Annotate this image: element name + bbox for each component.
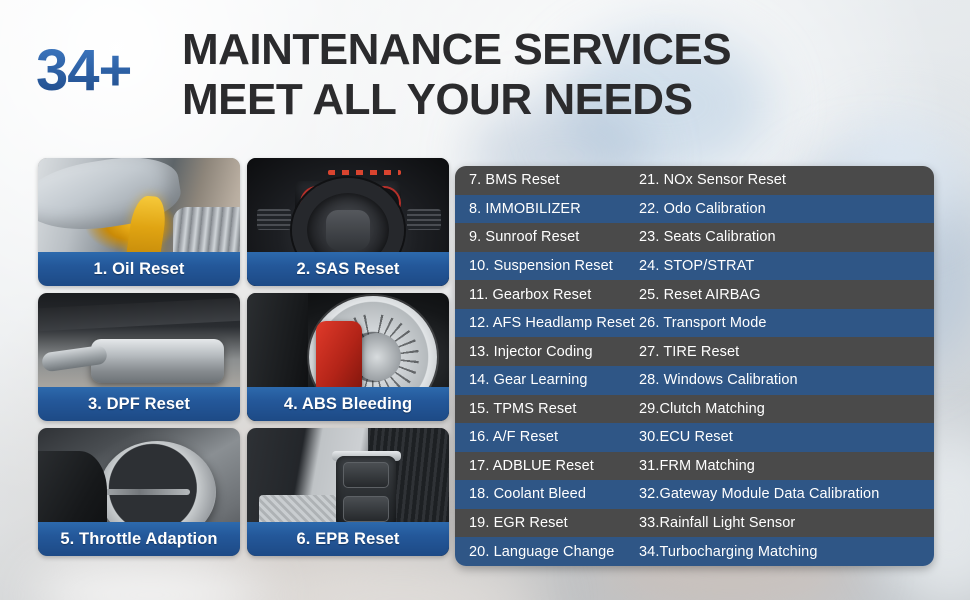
service-list-row: 12. AFS Headlamp Reset26. Transport Mode: [455, 309, 934, 338]
headline-line-1: MAINTENANCE SERVICES: [182, 25, 731, 74]
service-item-label: 11. Gearbox Reset: [455, 287, 638, 303]
service-item-label: 15. TPMS Reset: [455, 401, 638, 417]
service-list-row: 16. A/F Reset30.ECU Reset: [455, 423, 934, 452]
service-list-row: 8. IMMOBILIZER22. Odo Calibration: [455, 195, 934, 224]
feature-card[interactable]: 4. ABS Bleeding: [247, 293, 449, 421]
service-item-label: 23. Seats Calibration: [638, 229, 934, 245]
service-item-label: 9. Sunroof Reset: [455, 229, 638, 245]
promo-banner: 34+ MAINTENANCE SERVICES MEET ALL YOUR N…: [0, 0, 970, 600]
service-item-label: 29.Clutch Matching: [638, 401, 934, 417]
service-item-label: 22. Odo Calibration: [638, 201, 934, 217]
service-item-label: 28. Windows Calibration: [638, 372, 934, 388]
service-item-label: 17. ADBLUE Reset: [455, 458, 638, 474]
service-item-label: 8. IMMOBILIZER: [455, 201, 638, 217]
headline-line-2: MEET ALL YOUR NEEDS: [182, 78, 731, 122]
feature-card[interactable]: 2. SAS Reset: [247, 158, 449, 286]
service-item-label: 34.Turbocharging Matching: [638, 544, 934, 560]
banner-header: 34+ MAINTENANCE SERVICES MEET ALL YOUR N…: [0, 0, 970, 150]
service-list-panel: 7. BMS Reset21. NOx Sensor Reset8. IMMOB…: [455, 166, 934, 566]
feature-card-label: 4. ABS Bleeding: [247, 387, 449, 421]
service-item-label: 32.Gateway Module Data Calibration: [638, 486, 934, 502]
page-title: MAINTENANCE SERVICES MEET ALL YOUR NEEDS: [182, 28, 731, 122]
feature-card-label: 1. Oil Reset: [38, 252, 240, 286]
service-item-label: 20. Language Change: [455, 544, 638, 560]
feature-card-grid: 1. Oil Reset 2. SAS Reset: [38, 158, 440, 563]
service-list-row: 11. Gearbox Reset25. Reset AIRBAG: [455, 280, 934, 309]
service-list-row: 15. TPMS Reset29.Clutch Matching: [455, 395, 934, 424]
service-item-label: 33.Rainfall Light Sensor: [638, 515, 934, 531]
service-list-row: 18. Coolant Bleed32.Gateway Module Data …: [455, 480, 934, 509]
service-list-row: 9. Sunroof Reset23. Seats Calibration: [455, 223, 934, 252]
service-item-label: 13. Injector Coding: [455, 344, 638, 360]
service-list-row: 14. Gear Learning28. Windows Calibration: [455, 366, 934, 395]
feature-card[interactable]: 6. EPB Reset: [247, 428, 449, 556]
feature-card-label: 2. SAS Reset: [247, 252, 449, 286]
service-list-row: 7. BMS Reset21. NOx Sensor Reset: [455, 166, 934, 195]
service-item-label: 7. BMS Reset: [455, 172, 638, 188]
feature-card[interactable]: 5. Throttle Adaption: [38, 428, 240, 556]
service-item-label: 10. Suspension Reset: [455, 258, 638, 274]
service-list-row: 20. Language Change34.Turbocharging Matc…: [455, 537, 934, 566]
service-item-label: 31.FRM Matching: [638, 458, 934, 474]
service-list-row: 19. EGR Reset33.Rainfall Light Sensor: [455, 509, 934, 538]
service-item-label: 16. A/F Reset: [455, 429, 638, 445]
service-count-badge: 34+: [36, 42, 131, 100]
service-item-label: 21. NOx Sensor Reset: [638, 172, 934, 188]
feature-card-label: 6. EPB Reset: [247, 522, 449, 556]
service-list-row: 13. Injector Coding27. TIRE Reset: [455, 337, 934, 366]
service-item-label: 26. Transport Mode: [638, 315, 934, 331]
service-item-label: 27. TIRE Reset: [638, 344, 934, 360]
service-item-label: 19. EGR Reset: [455, 515, 638, 531]
feature-card-label: 3. DPF Reset: [38, 387, 240, 421]
feature-card[interactable]: 1. Oil Reset: [38, 158, 240, 286]
service-list-row: 17. ADBLUE Reset31.FRM Matching: [455, 452, 934, 481]
service-item-label: 25. Reset AIRBAG: [638, 287, 934, 303]
service-item-label: 14. Gear Learning: [455, 372, 638, 388]
feature-card-label: 5. Throttle Adaption: [38, 522, 240, 556]
service-item-label: 30.ECU Reset: [638, 429, 934, 445]
service-item-label: 12. AFS Headlamp Reset: [455, 315, 638, 331]
service-item-label: 24. STOP/STRAT: [638, 258, 934, 274]
feature-card[interactable]: 3. DPF Reset: [38, 293, 240, 421]
service-list-row: 10. Suspension Reset24. STOP/STRAT: [455, 252, 934, 281]
service-item-label: 18. Coolant Bleed: [455, 486, 638, 502]
